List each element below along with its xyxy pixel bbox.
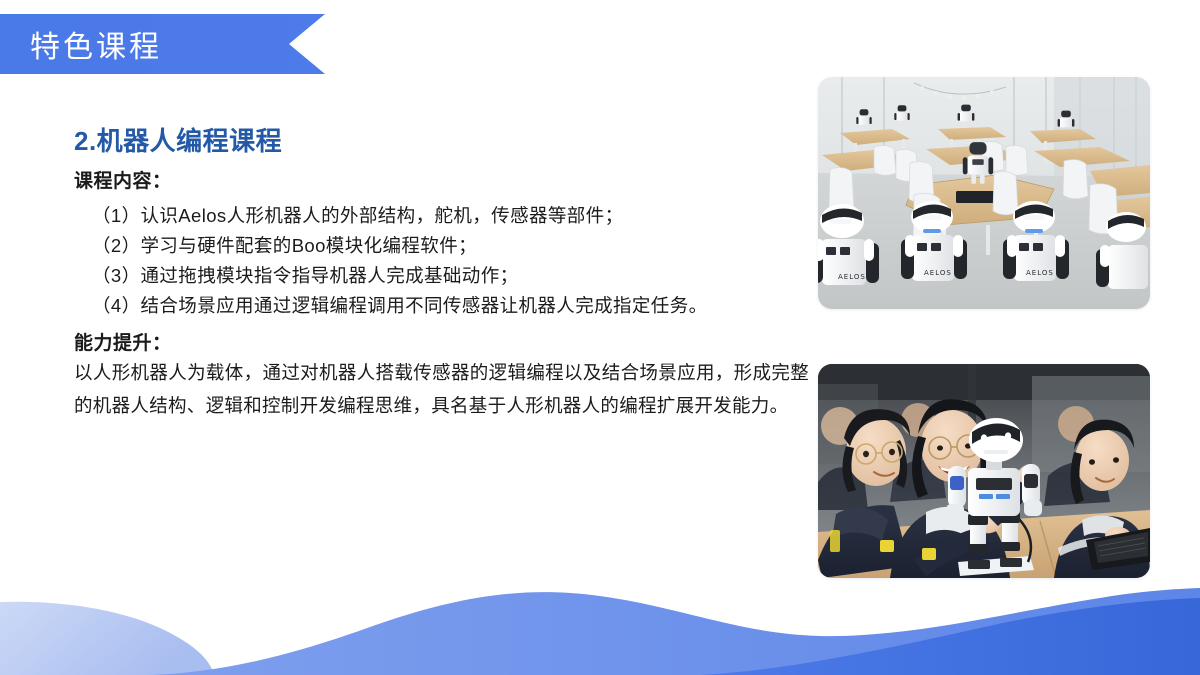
list-item: （1）认识Aelos人形机器人的外部结构，舵机，传感器等部件； (74, 201, 814, 231)
section-title: 2.机器人编程课程 (74, 126, 814, 157)
slide-canvas: 特色课程 2.机器人编程课程 课程内容： （1）认识Aelos人形机器人的外部结… (0, 0, 1200, 675)
wave-bottom-right-light (150, 588, 1200, 675)
course-item-list: （1）认识Aelos人形机器人的外部结构，舵机，传感器等部件； （2）学习与硬件… (74, 201, 814, 321)
page-title: 特色课程 (30, 14, 162, 74)
students-with-robot-photo (818, 364, 1150, 578)
list-item: （2）学习与硬件配套的Boo模块化编程软件； (74, 231, 814, 261)
list-item: （3）通过拖拽模块指令指导机器人完成基础动作； (74, 261, 814, 291)
wave-bottom-right-dark (700, 598, 1200, 675)
ability-paragraph: 以人形机器人为载体，通过对机器人搭载传感器的逻辑编程以及结合场景应用，形成完整的… (74, 357, 809, 423)
svg-text:AELOS: AELOS (924, 269, 952, 277)
ability-label: 能力提升： (74, 328, 814, 355)
wave-bottom-left (0, 602, 214, 675)
course-content-label: 课程内容： (74, 169, 814, 195)
list-item: （4）结合场景应用通过逻辑编程调用不同传感器让机器人完成指定任务。 (74, 291, 814, 321)
svg-text:AELOS: AELOS (838, 273, 866, 281)
header-ribbon: 特色课程 (0, 14, 330, 74)
content-column: 2.机器人编程课程 课程内容： （1）认识Aelos人形机器人的外部结构，舵机，… (74, 126, 814, 423)
robot-classroom-photo: AELOS AELOS (818, 77, 1150, 309)
svg-text:AELOS: AELOS (1026, 269, 1054, 277)
